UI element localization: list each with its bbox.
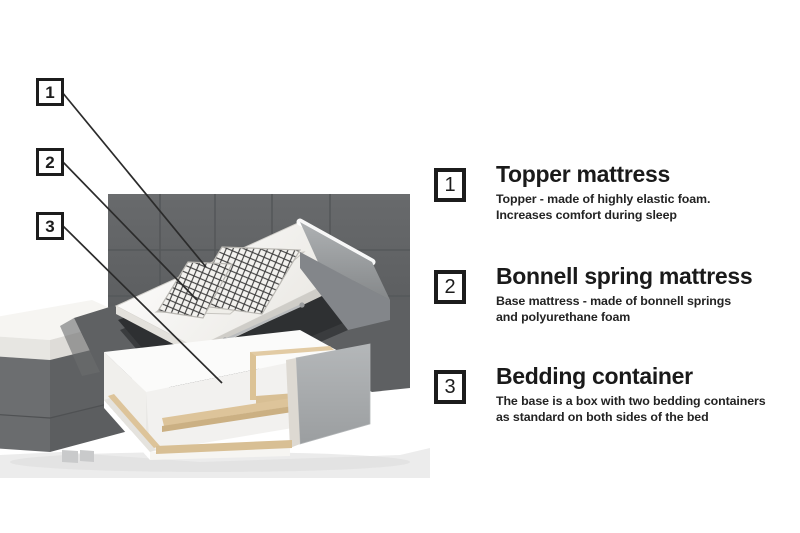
bedding-container xyxy=(104,330,370,460)
legend-title-1: Topper mattress xyxy=(496,162,796,187)
legend-panel: 1 Topper mattress Topper - made of highl… xyxy=(430,0,800,533)
page-root: 1 2 3 1 Topper mattress Topper - made of… xyxy=(0,0,800,533)
callout-label-2: 2 xyxy=(45,154,54,171)
callout-label-1: 1 xyxy=(45,84,54,101)
legend-title-2: Bonnell spring mattress xyxy=(496,264,796,289)
legend-number-2-label: 2 xyxy=(444,277,455,297)
legend-number-2: 2 xyxy=(434,270,466,304)
bed-legs xyxy=(62,450,94,463)
bed-illustration: 1 2 3 xyxy=(0,0,430,533)
legend-text-3: Bedding container The base is a box with… xyxy=(496,364,796,426)
legend-text-1: Topper mattress Topper - made of highly … xyxy=(496,162,796,224)
legend-desc-3: The base is a box with two bedding conta… xyxy=(496,393,796,426)
legend-number-1-label: 1 xyxy=(444,175,455,195)
callout-box-1[interactable]: 1 xyxy=(36,78,64,106)
legend-title-3: Bedding container xyxy=(496,364,796,389)
callout-label-3: 3 xyxy=(45,218,54,235)
legend-desc-2: Base mattress - made of bonnell springs … xyxy=(496,293,796,326)
callout-box-2[interactable]: 2 xyxy=(36,148,64,176)
legend-number-1: 1 xyxy=(434,168,466,202)
callout-box-3[interactable]: 3 xyxy=(36,212,64,240)
legend-number-3: 3 xyxy=(434,370,466,404)
legend-number-3-label: 3 xyxy=(444,377,455,397)
legend-desc-1: Topper - made of highly elastic foam. In… xyxy=(496,191,796,224)
legend-text-2: Bonnell spring mattress Base mattress - … xyxy=(496,264,796,326)
